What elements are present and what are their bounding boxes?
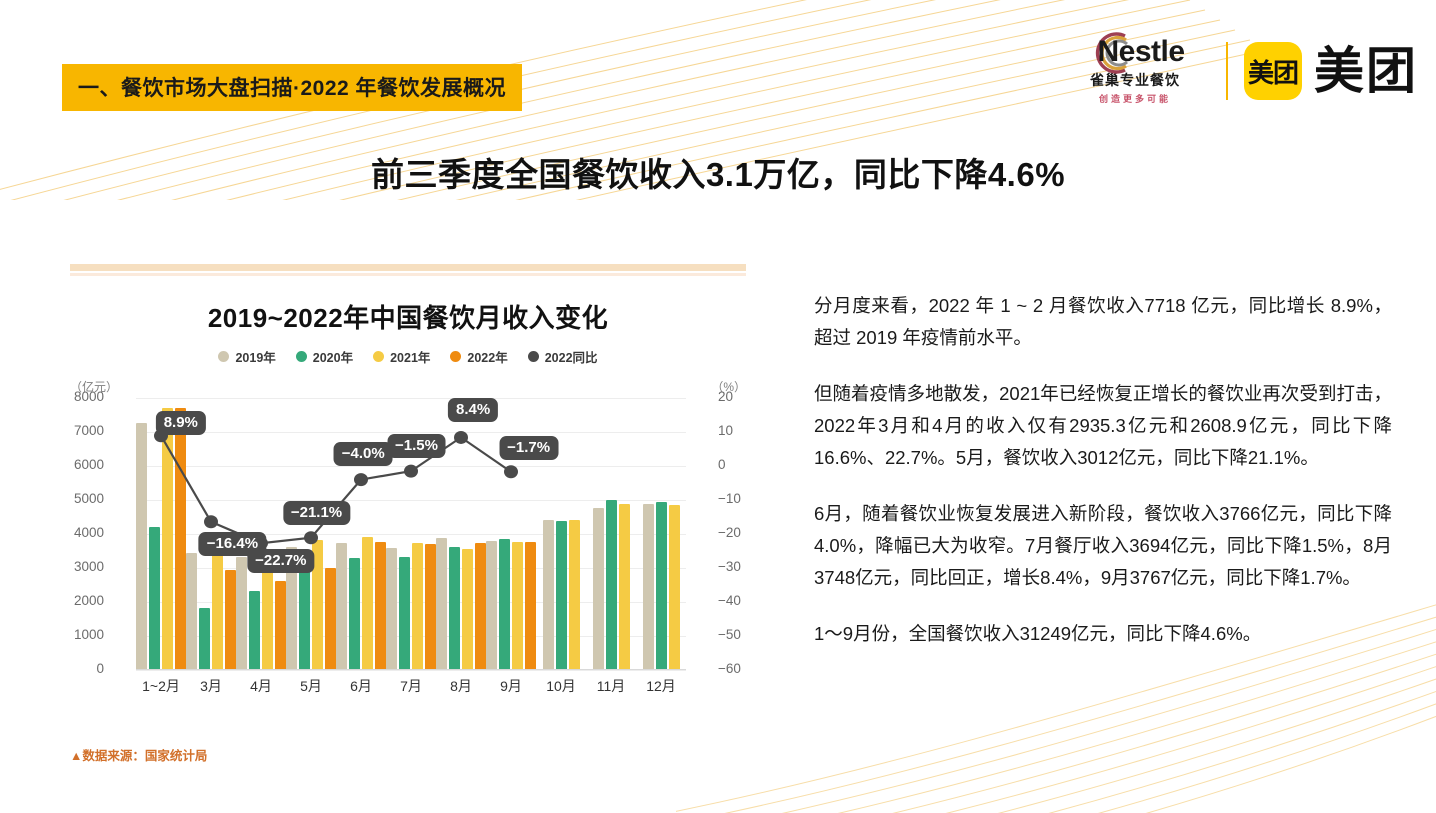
x-tick-label: 4月: [236, 676, 286, 696]
yoy-data-point: [404, 465, 418, 478]
data-label-pill: −1.5%: [387, 434, 446, 458]
y-tick-left: 4000: [44, 525, 104, 540]
logo-divider: [1226, 42, 1228, 100]
legend-swatch: [218, 351, 229, 362]
data-label-pill: −21.1%: [283, 501, 350, 525]
x-tick-label: 1~2月: [136, 676, 186, 696]
y-tick-left: 2000: [44, 593, 104, 608]
nestle-logo: Nestle 雀巢专业餐饮 创造更多可能: [1060, 32, 1210, 110]
y-tick-right: −20: [718, 525, 778, 540]
y-tick-left: 8000: [44, 389, 104, 404]
nestle-slogan: 创造更多可能: [1099, 92, 1171, 105]
page-title: 前三季度全国餐饮收入3.1万亿，同比下降4.6%: [0, 148, 1436, 196]
y-tick-right: 10: [718, 423, 778, 438]
x-tick-label: 7月: [386, 676, 436, 696]
yoy-data-point: [454, 431, 468, 444]
y-tick-right: −30: [718, 559, 778, 574]
yoy-data-point: [504, 465, 518, 478]
logo-group: Nestle 雀巢专业餐饮 创造更多可能 美团 美团: [1060, 32, 1418, 110]
y-tick-left: 5000: [44, 491, 104, 506]
y-tick-left: 0: [44, 661, 104, 676]
commentary-paragraph: 但随着疫情多地散发，2021年已经恢复正增长的餐饮业再次受到打击，2022年3月…: [814, 378, 1392, 474]
x-tick-label: 3月: [186, 676, 236, 696]
commentary-paragraph: 6月，随着餐饮业恢复发展进入新阶段，餐饮收入3766亿元，同比下降4.0%，降幅…: [814, 498, 1392, 594]
y-tick-right: −40: [718, 593, 778, 608]
x-tick-label: 12月: [636, 676, 686, 696]
x-tick-label: 10月: [536, 676, 586, 696]
x-tick-label: 5月: [286, 676, 336, 696]
x-axis-labels: 1~2月3月4月5月6月7月8月9月10月11月12月: [136, 676, 686, 696]
legend-item: 2020年: [296, 347, 353, 366]
rule-thick: [70, 264, 746, 271]
chart-title: 2019~2022年中国餐饮月收入变化: [70, 298, 746, 335]
legend-label: 2021年: [390, 347, 430, 366]
section-tag: 一、餐饮市场大盘扫描·2022 年餐饮发展概况: [62, 64, 522, 111]
y-tick-left: 3000: [44, 559, 104, 574]
y-tick-left: 1000: [44, 627, 104, 642]
x-tick-label: 9月: [486, 676, 536, 696]
legend-swatch: [373, 351, 384, 362]
legend-label: 2022年: [467, 347, 507, 366]
x-tick-label: 8月: [436, 676, 486, 696]
legend-swatch: [528, 351, 539, 362]
chart-legend: 2019年2020年2021年2022年2022同比: [70, 347, 746, 366]
meituan-logo: 美团 美团: [1244, 42, 1418, 100]
line-layer: 8.9%−16.4%−22.7%−21.1%−4.0%−1.5%8.4%−1.7…: [136, 398, 686, 670]
legend-item: 2022同比: [528, 347, 598, 366]
chart-panel: 2019~2022年中国餐饮月收入变化 2019年2020年2021年2022年…: [70, 264, 746, 690]
y-tick-left: 7000: [44, 423, 104, 438]
data-label-pill: −22.7%: [247, 549, 314, 573]
y-tick-right: −50: [718, 627, 778, 642]
legend-item: 2022年: [450, 347, 507, 366]
legend-item: 2019年: [218, 347, 275, 366]
meituan-app-icon: 美团: [1244, 42, 1302, 100]
rule-thin: [70, 273, 746, 276]
legend-swatch: [450, 351, 461, 362]
legend-label: 2020年: [313, 347, 353, 366]
data-label-pill: 8.4%: [448, 398, 498, 422]
commentary-paragraph: 1～9月份，全国餐饮收入31249亿元，同比下降4.6%。: [814, 618, 1392, 650]
data-source-note: ▲数据来源：国家统计局: [70, 745, 207, 764]
yoy-data-point: [354, 473, 368, 486]
data-label-pill: 8.9%: [156, 411, 206, 435]
y-tick-left: 6000: [44, 457, 104, 472]
x-tick-label: 6月: [336, 676, 386, 696]
legend-swatch: [296, 351, 307, 362]
data-label-pill: −1.7%: [499, 436, 558, 460]
x-tick-label: 11月: [586, 676, 636, 696]
y-tick-right: −10: [718, 491, 778, 506]
y-tick-right: −60: [718, 661, 778, 676]
commentary-panel: 分月度来看，2022 年 1 ~ 2 月餐饮收入7718 亿元，同比增长 8.9…: [814, 290, 1392, 674]
y-tick-right: 0: [718, 457, 778, 472]
yoy-data-point: [304, 531, 318, 544]
meituan-wordmark: 美团: [1314, 45, 1418, 97]
legend-item: 2021年: [373, 347, 430, 366]
yoy-data-point: [204, 515, 218, 528]
legend-label: 2019年: [235, 347, 275, 366]
legend-label: 2022同比: [545, 347, 598, 366]
y-tick-right: 20: [718, 389, 778, 404]
data-label-pill: −4.0%: [334, 442, 393, 466]
nestle-wordmark: Nestle: [1097, 36, 1184, 68]
commentary-paragraph: 分月度来看，2022 年 1 ~ 2 月餐饮收入7718 亿元，同比增长 8.9…: [814, 290, 1392, 354]
plot-area: （亿元） （%） 8000700060005000400030002000100…: [70, 380, 746, 690]
